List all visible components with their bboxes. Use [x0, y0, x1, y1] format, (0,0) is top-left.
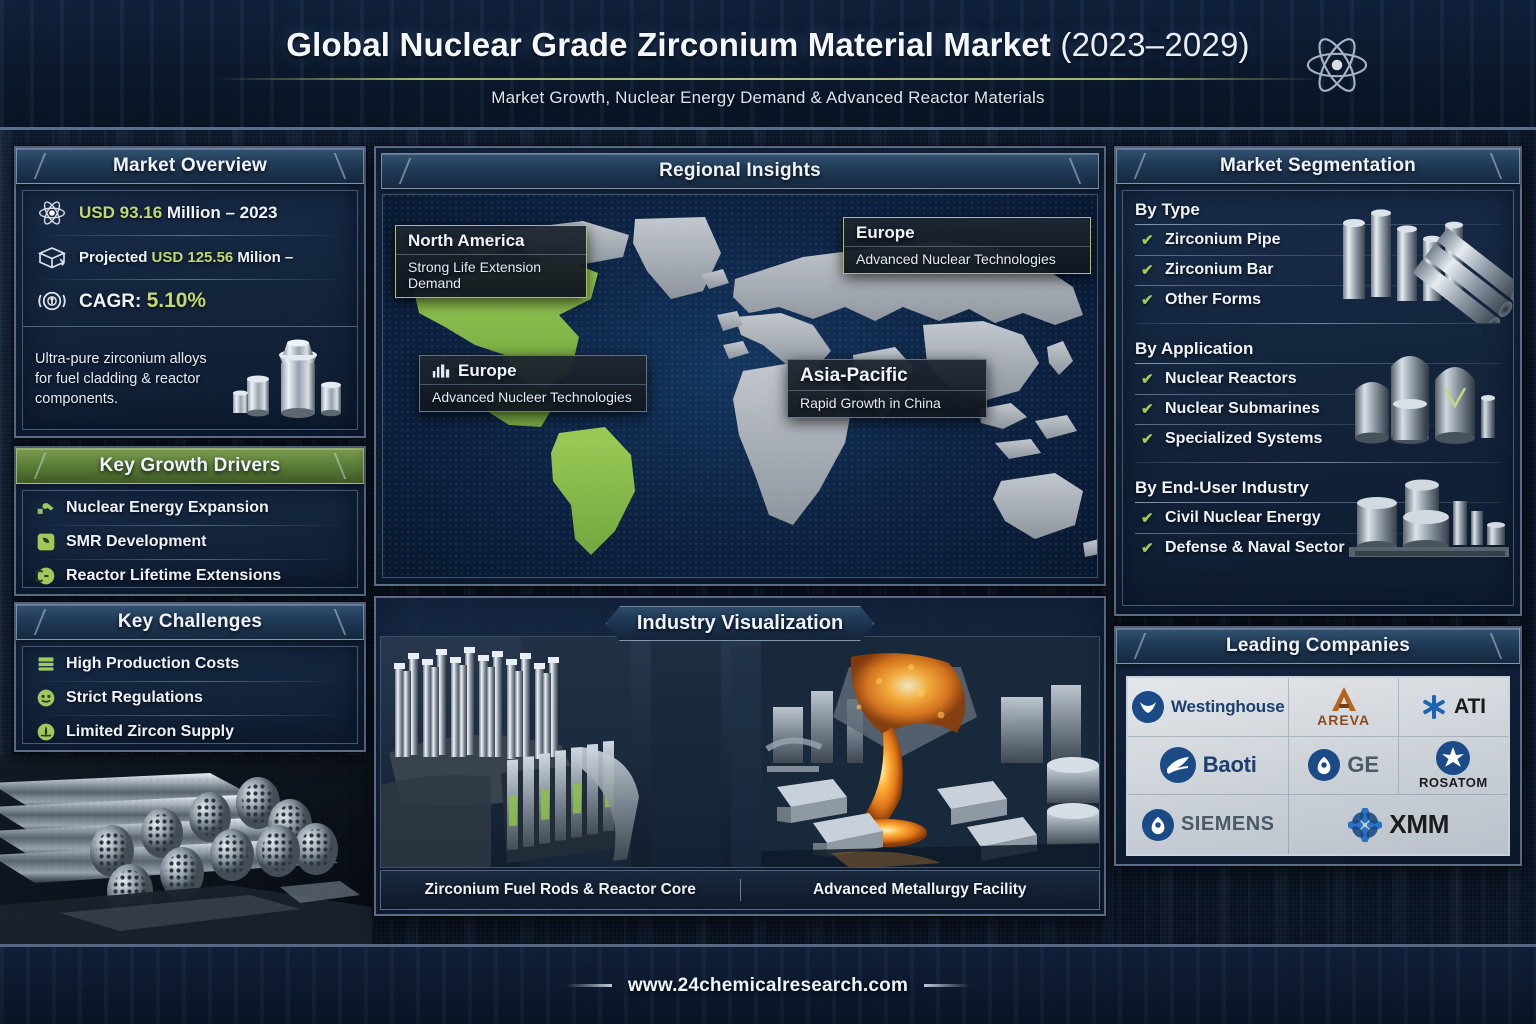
segment-group-by-type: By Type ✔Zirconium Pipe ✔Zirconium Bar ✔…: [1123, 191, 1513, 317]
leading-companies-panel: Leading Companies Westinghouse AREVA: [1114, 626, 1522, 866]
company-baoti[interactable]: Baoti: [1128, 737, 1289, 796]
handshake-icon: [35, 497, 57, 519]
list-item-label: High Production Costs: [66, 655, 239, 673]
check-icon: ✔: [1141, 291, 1155, 309]
overview-description-row: Ultra-pure zirconium alloys for fuel cla…: [23, 326, 357, 427]
list-item-label: Defense & Naval Sector: [1165, 539, 1345, 557]
list-item: ✔Defense & Naval Sector: [1135, 533, 1501, 563]
kpi-rest: Million – 2023: [162, 203, 277, 222]
footer-dash-right: [924, 984, 970, 987]
kpi-projected-size: Projected USD 125.56 Milion –: [23, 235, 357, 279]
company-name: Westinghouse: [1171, 697, 1284, 717]
list-item: ✔Other Forms: [1135, 285, 1501, 315]
company-ge[interactable]: GE: [1289, 737, 1398, 796]
company-name: XMM: [1389, 809, 1449, 840]
list-item-label: Zirconium Bar: [1165, 261, 1273, 279]
company-name: AREVA: [1317, 712, 1370, 728]
callout-title: Asia-Pacific: [788, 360, 986, 390]
rosatom-logo: [1436, 741, 1470, 775]
list-item-label: Reactor Lifetime Extensions: [66, 567, 281, 585]
callout-subtitle: Advanced Nucleer Technologies: [420, 384, 646, 411]
callout-asia-pacific[interactable]: Asia-Pacific Rapid Growth in China: [787, 359, 987, 418]
xmm-logo: [1348, 808, 1382, 842]
list-item: ✔Specialized Systems: [1135, 424, 1501, 454]
list-item: High Production Costs: [23, 647, 357, 681]
check-icon: ✔: [1141, 231, 1155, 249]
title-years: (2023–2029): [1060, 26, 1249, 63]
siemens-logo: [1142, 809, 1174, 841]
industry-visualization-image: [380, 636, 1100, 868]
check-icon: ✔: [1141, 509, 1155, 527]
list-item-label: Nuclear Submarines: [1165, 400, 1320, 418]
callout-europe-top[interactable]: Europe Advanced Nuclear Technologies: [843, 217, 1091, 274]
list-item: ✔Nuclear Submarines: [1135, 394, 1501, 424]
westinghouse-logo: [1132, 691, 1164, 723]
segment-group-title: By Type: [1135, 195, 1501, 224]
areva-logo: [1329, 686, 1359, 712]
kpi-value: 5.10%: [147, 289, 207, 312]
segment-group-by-end-user: By End-User Industry ✔Civil Nuclear Ener…: [1123, 469, 1513, 565]
chart-box-icon: [35, 242, 69, 272]
footer: www.24chemicalresearch.com: [0, 944, 1536, 1024]
list-item: Reactor Lifetime Extensions: [23, 559, 357, 588]
overview-description: Ultra-pure zirconium alloys for fuel cla…: [35, 349, 223, 409]
market-overview-heading: Market Overview: [16, 148, 364, 184]
check-icon: ✔: [1141, 370, 1155, 388]
kpi-prefix: CAGR:: [79, 291, 147, 312]
stacked-cost-icon: [35, 653, 57, 675]
list-item-label: SMR Development: [66, 533, 206, 551]
challenges-heading: Key Challenges: [16, 604, 364, 640]
kpi-cagr: CAGR: 5.10%: [23, 279, 357, 323]
company-name: GE: [1347, 752, 1378, 778]
market-segmentation-heading: Market Segmentation: [1116, 148, 1520, 184]
regional-insights-heading: Regional Insights: [381, 153, 1099, 189]
list-item-label: Nuclear Reactors: [1165, 370, 1297, 388]
segment-group-by-application: By Application ✔Nuclear Reactors ✔Nuclea…: [1123, 330, 1513, 456]
company-logo-grid: Westinghouse AREVA: [1126, 676, 1510, 856]
list-item: ✔Nuclear Reactors: [1135, 364, 1501, 394]
footer-dash-left: [566, 984, 612, 987]
list-item: SMR Development: [23, 525, 357, 559]
callout-europe-lower[interactable]: Europe Advanced Nucleer Technologies: [419, 355, 647, 412]
ati-logo: [1421, 694, 1447, 720]
list-item: ✔Zirconium Bar: [1135, 255, 1501, 285]
company-name: SIEMENS: [1181, 813, 1275, 836]
list-item: Limited Zircon Supply: [23, 715, 357, 744]
kpi-value: USD 93.16: [79, 203, 162, 222]
list-item-label: Specialized Systems: [1165, 430, 1322, 448]
kpi-value: USD 125.56: [152, 249, 234, 266]
industry-captions: Zirconium Fuel Rods & Reactor Core Advan…: [380, 870, 1100, 910]
leading-companies-heading: Leading Companies: [1116, 628, 1520, 664]
kpi-rest: Milion –: [233, 249, 293, 266]
gauge-icon: [35, 286, 69, 316]
growth-drivers-heading: Key Growth Drivers: [16, 448, 364, 484]
extension-icon: [35, 565, 57, 587]
zirconium-ingots-image: [229, 335, 347, 423]
list-item-label: Other Forms: [1165, 291, 1261, 309]
title-divider: [215, 78, 1321, 80]
market-overview-panel: Market Overview USD 93.16 Million – 2023: [14, 146, 366, 438]
callout-title: Europe: [844, 218, 1090, 246]
list-item: ✔Zirconium Pipe: [1135, 225, 1501, 255]
title-main: Global Nuclear Grade Zirconium Material …: [286, 26, 1051, 63]
list-item: ✔Civil Nuclear Energy: [1135, 503, 1501, 533]
ge-logo: [1308, 749, 1340, 781]
list-item: Strict Regulations: [23, 681, 357, 715]
segment-group-title: By End-User Industry: [1135, 473, 1501, 502]
challenges-panel: Key Challenges High Production Costs Str…: [14, 602, 366, 752]
callout-title-text: Europe: [458, 361, 517, 381]
regional-insights-panel: Regional Insights: [374, 146, 1106, 586]
list-item-label: Strict Regulations: [66, 689, 203, 707]
check-icon: ✔: [1141, 430, 1155, 448]
callout-subtitle: Advanced Nuclear Technologies: [844, 246, 1090, 273]
industry-visualization-panel: Industry Visualization: [374, 596, 1106, 916]
footer-url[interactable]: www.24chemicalresearch.com: [628, 975, 908, 997]
growth-drivers-panel: Key Growth Drivers Nuclear Energy Expans…: [14, 446, 366, 596]
zirconium-rods-image: [0, 755, 372, 945]
industry-visualization-heading: Industry Visualization: [606, 606, 874, 641]
company-areva[interactable]: AREVA: [1289, 678, 1398, 737]
callout-subtitle: Strong Life Extension Demand: [396, 254, 586, 297]
divider: [1135, 462, 1501, 463]
segment-group-title: By Application: [1135, 334, 1501, 363]
list-item-label: Nuclear Energy Expansion: [66, 499, 269, 517]
company-rosatom[interactable]: ROSATOM: [1399, 737, 1508, 796]
baoti-logo: [1160, 747, 1196, 783]
bar-chart-icon: [432, 363, 450, 379]
company-westinghouse[interactable]: Westinghouse: [1128, 678, 1289, 737]
kpi-prefix: Projected: [79, 249, 152, 266]
company-name: ATI: [1454, 695, 1486, 719]
list-item-label: Limited Zircon Supply: [66, 723, 234, 741]
check-icon: ✔: [1141, 261, 1155, 279]
atom-icon: [1304, 32, 1370, 98]
supply-icon: [35, 721, 57, 743]
caption-fuel-rods: Zirconium Fuel Rods & Reactor Core: [381, 881, 740, 899]
callout-north-america[interactable]: North America Strong Life Extension Dema…: [395, 225, 587, 298]
callout-title: North America: [396, 226, 586, 254]
market-segmentation-panel: Market Segmentation By Type ✔Zirconium P…: [1114, 146, 1522, 616]
company-ati[interactable]: ATI: [1399, 678, 1508, 737]
callout-subtitle: Rapid Growth in China: [788, 390, 986, 417]
company-siemens[interactable]: SIEMENS: [1128, 795, 1289, 854]
regulation-icon: [35, 687, 57, 709]
company-xmm[interactable]: XMM: [1289, 795, 1508, 854]
divider: [1135, 323, 1501, 324]
world-map[interactable]: North America Strong Life Extension Dema…: [382, 194, 1098, 578]
company-name: ROSATOM: [1419, 775, 1488, 790]
list-item: Nuclear Energy Expansion: [23, 491, 357, 525]
company-name: Baoti: [1203, 752, 1257, 778]
caption-metallurgy: Advanced Metallurgy Facility: [741, 881, 1100, 899]
check-icon: ✔: [1141, 400, 1155, 418]
atom-icon: [35, 198, 69, 228]
list-item-label: Zirconium Pipe: [1165, 231, 1281, 249]
header: Global Nuclear Grade Zirconium Material …: [0, 0, 1536, 130]
reactor-icon: [35, 531, 57, 553]
kpi-market-size-2023: USD 93.16 Million – 2023: [23, 191, 357, 235]
list-item-label: Civil Nuclear Energy: [1165, 509, 1321, 527]
callout-title: Europe: [420, 356, 646, 384]
check-icon: ✔: [1141, 539, 1155, 557]
